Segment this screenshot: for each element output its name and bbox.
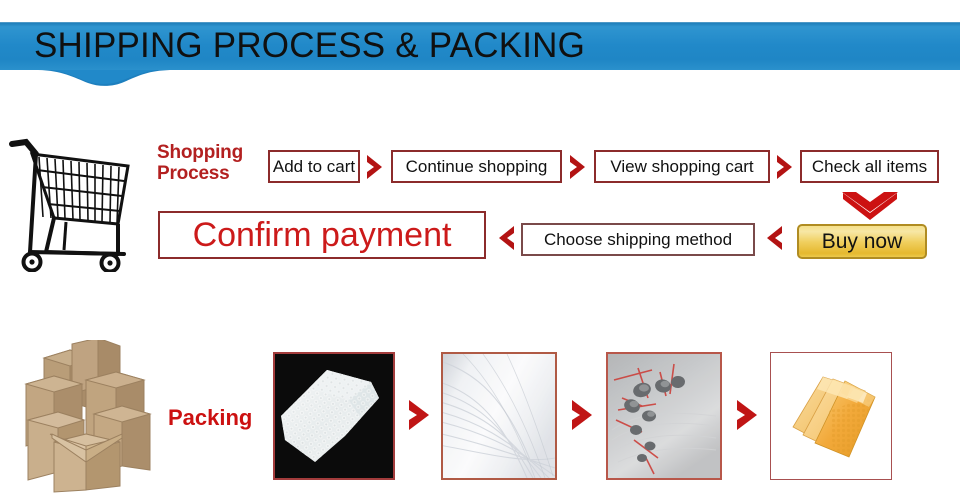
packing-label: Packing: [168, 405, 252, 431]
bubble-wrap-roll-photo: [273, 352, 395, 480]
wrapped-parts-photo: [606, 352, 722, 480]
chevron-right-icon: [565, 398, 599, 432]
plastic-film-wrap-photo: [441, 352, 557, 480]
process-label-line-2: Process: [157, 163, 230, 184]
page-title: SHIPPING PROCESS & PACKING: [34, 22, 585, 70]
buy-now-button[interactable]: Buy now: [797, 224, 927, 259]
shopping-process-label: Shopping Process: [157, 142, 262, 184]
process-label-line-1: Shopping: [157, 142, 243, 163]
page-banner: SHIPPING PROCESS & PACKING: [0, 22, 960, 70]
step-view-shopping-cart[interactable]: View shopping cart: [594, 150, 770, 183]
chevron-left-icon: [761, 223, 787, 253]
chevron-left-icon: [493, 223, 519, 253]
chevron-right-icon: [402, 398, 436, 432]
step-add-to-cart[interactable]: Add to cart: [268, 150, 360, 183]
chevron-down-icon: [838, 189, 902, 223]
ribbon-tail-icon: [38, 68, 174, 88]
step-continue-shopping[interactable]: Continue shopping: [391, 150, 562, 183]
step-choose-shipping-method[interactable]: Choose shipping method: [521, 223, 755, 256]
shopping-cart-icon: [6, 132, 138, 272]
step-check-all-items[interactable]: Check all items: [800, 150, 939, 183]
chevron-right-icon: [772, 152, 798, 182]
cardboard-boxes-icon: [10, 340, 175, 495]
chevron-right-icon: [362, 152, 388, 182]
chevron-right-icon: [565, 152, 591, 182]
chevron-right-icon: [730, 398, 764, 432]
padded-mailer-envelopes-photo: [770, 352, 892, 480]
step-confirm-payment[interactable]: Confirm payment: [158, 211, 486, 259]
